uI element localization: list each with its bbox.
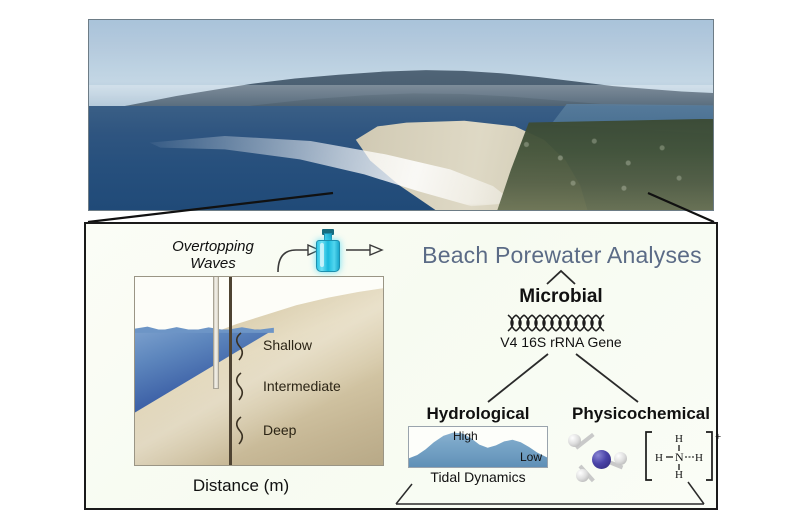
tidal-low-label: Low	[520, 450, 542, 464]
coastal-beach-photograph	[88, 19, 714, 211]
sampling-well-outer-pipe	[213, 276, 219, 389]
sample-bottle-group	[272, 228, 398, 286]
nitrogen-atom	[592, 450, 611, 469]
overtopping-line-2: Waves	[144, 255, 282, 272]
formula-h-left: H	[655, 452, 663, 464]
tidal-dynamics-chart: High Low	[408, 426, 548, 468]
distance-axis-label: Distance (m)	[116, 476, 366, 496]
chevron-up-icon	[538, 268, 584, 286]
formula-h-right: H	[695, 452, 703, 464]
formula-h-top: H	[675, 433, 683, 445]
figure-root: Depth (m) Overtopping Waves Shallow I	[0, 0, 800, 530]
bottle-highlight	[320, 243, 324, 267]
hydrogen-atom-1	[568, 434, 581, 447]
depth-zone-braces	[231, 277, 257, 466]
branch-label-microbial: Microbial	[486, 286, 636, 308]
overtopping-waves-annotation: Overtopping Waves	[144, 238, 282, 273]
beach-profile-plot: Shallow Intermediate Deep	[134, 276, 384, 466]
tidal-high-label: High	[453, 429, 478, 443]
branch-connector-lines	[416, 352, 706, 406]
branch-label-hydrological: Hydrological	[398, 404, 558, 424]
formula-n-center: N	[675, 450, 684, 464]
branch-label-physicochemical: Physicochemical	[552, 404, 730, 424]
dna-double-helix-icon	[486, 312, 636, 334]
overtopping-line-1: Overtopping	[144, 238, 282, 255]
depth-label-deep: Deep	[263, 422, 296, 438]
page-title: Beach Porewater Analyses	[408, 242, 716, 269]
hydrogen-atom-2	[614, 452, 627, 465]
bottom-connector-lines	[382, 470, 722, 510]
ion-charge: +	[715, 431, 721, 443]
depth-label-intermediate: Intermediate	[263, 378, 341, 394]
photo-town-buildings-texture	[501, 126, 713, 210]
depth-label-shallow: Shallow	[263, 337, 312, 353]
gene-target-label: V4 16S rRNA Gene	[466, 334, 656, 350]
beach-porewater-analyses-diagram: Depth (m) Overtopping Waves Shallow I	[84, 222, 718, 510]
